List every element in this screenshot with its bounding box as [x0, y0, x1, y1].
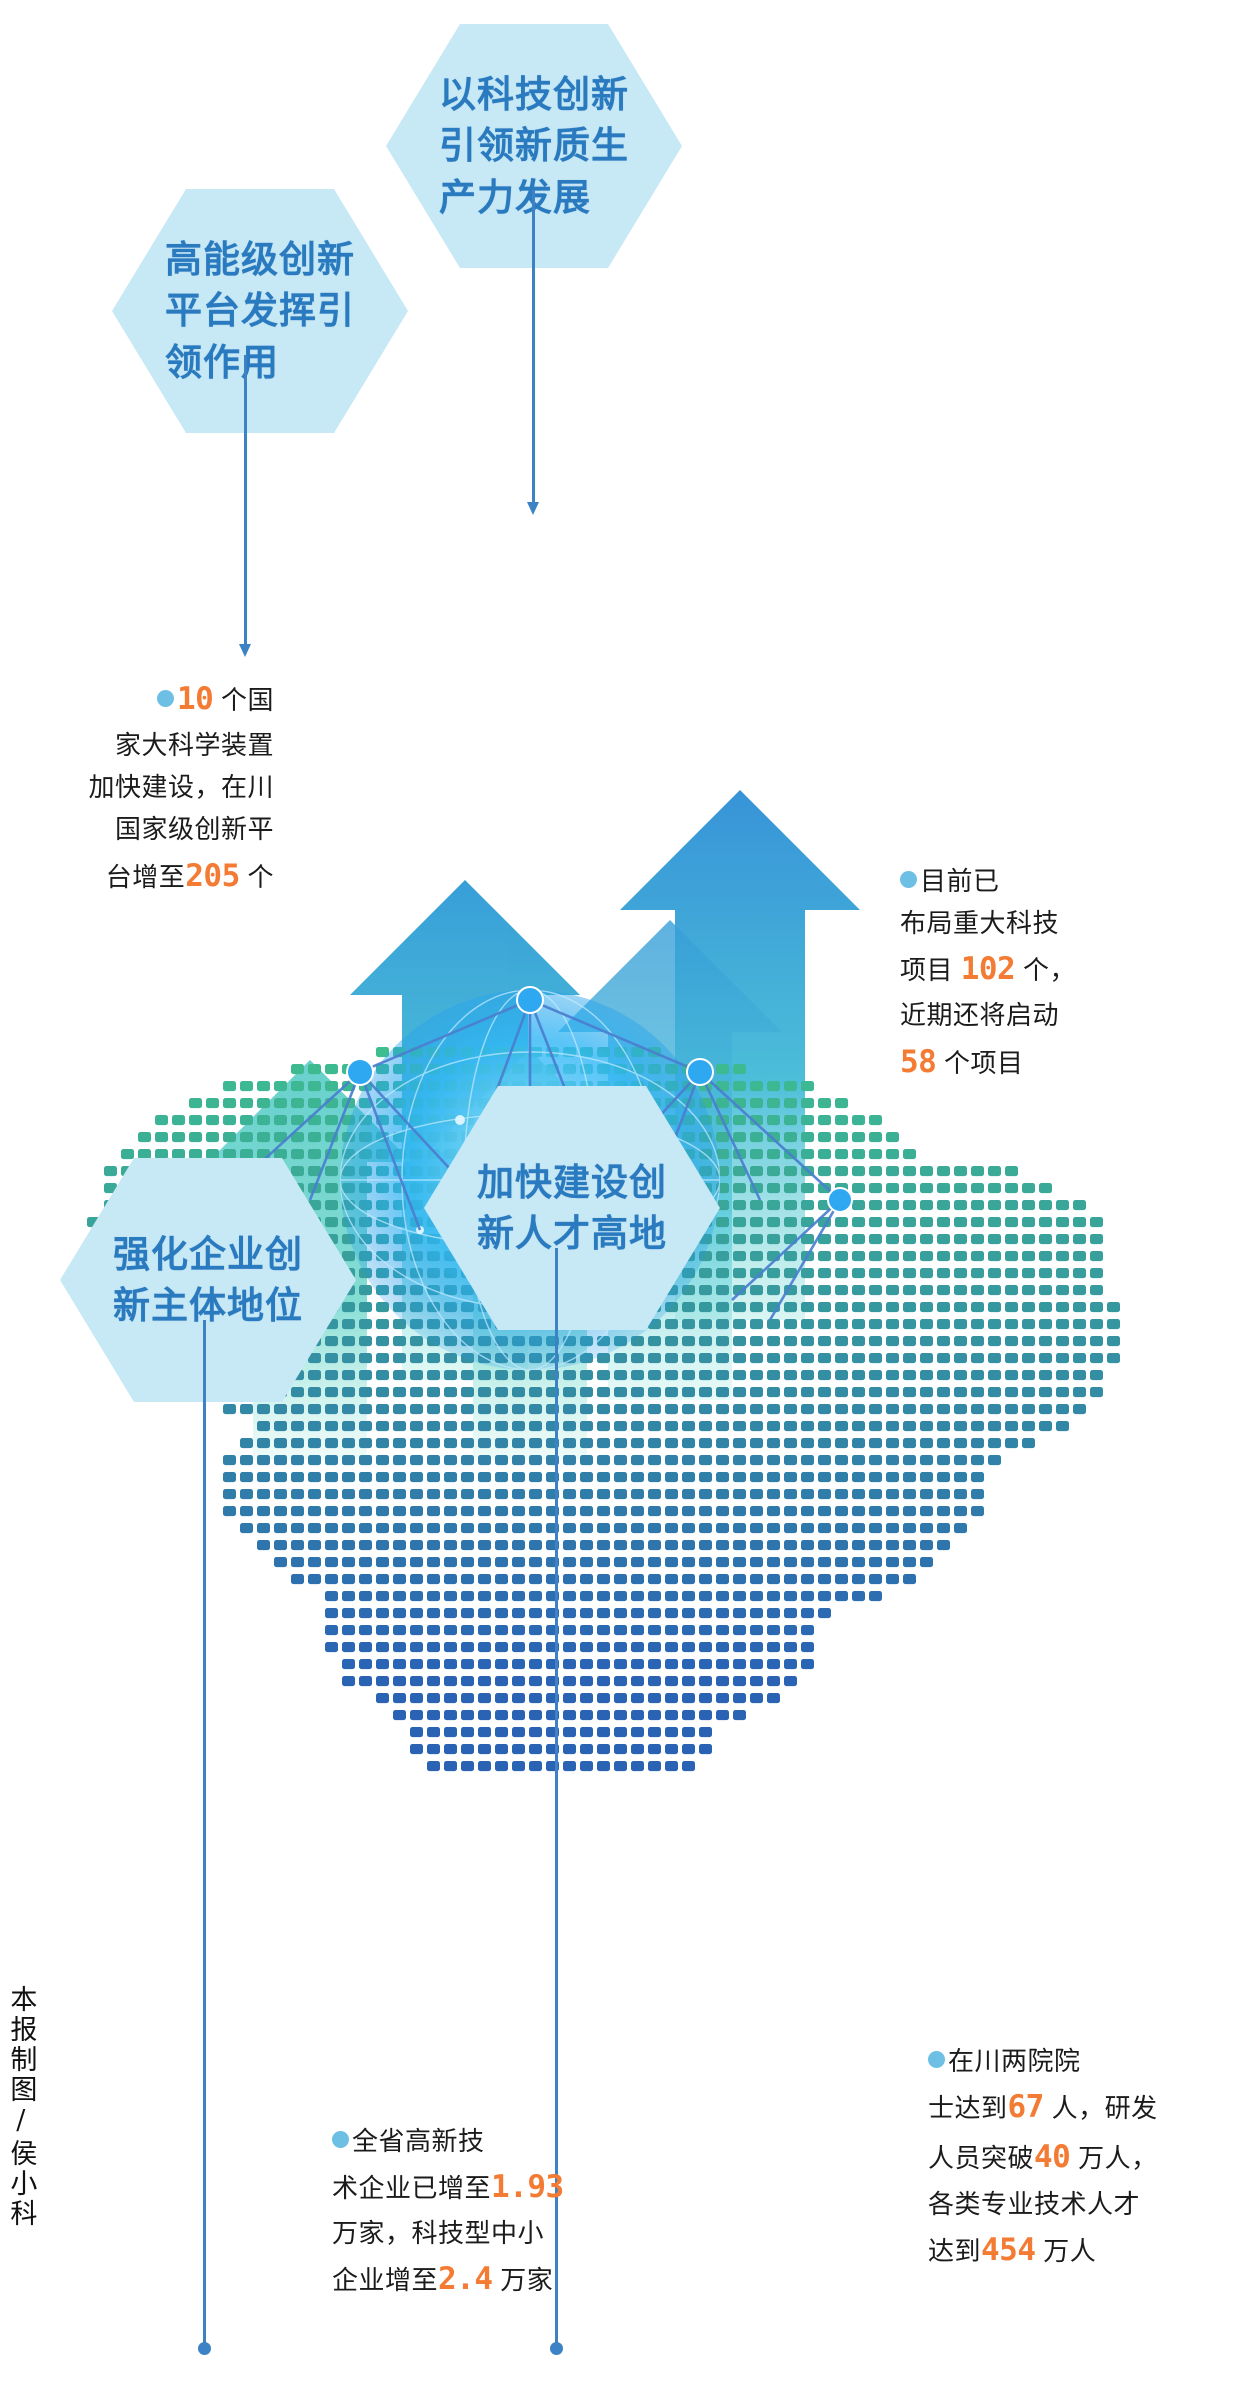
map-dot [257, 1455, 270, 1465]
map-dot [801, 1285, 814, 1295]
map-dot [461, 1370, 474, 1380]
map-dot [971, 1217, 984, 1227]
map-dot [359, 1540, 372, 1550]
map-dot [614, 1506, 627, 1516]
map-dot [767, 1523, 780, 1533]
map-dot [240, 1115, 253, 1125]
map-dot [767, 1659, 780, 1669]
map-dot [818, 1132, 831, 1142]
map-dot [257, 1132, 270, 1142]
hexagon-theme-platform[interactable]: 高能级创新 平台发挥引 领作用 [112, 189, 408, 433]
map-dot [291, 1064, 304, 1074]
map-dot [835, 1217, 848, 1227]
map-dot [920, 1421, 933, 1431]
map-dot [750, 1489, 763, 1499]
map-dot [699, 1676, 712, 1686]
map-dot [971, 1268, 984, 1278]
map-dot [920, 1319, 933, 1329]
map-dot [444, 1421, 457, 1431]
map-dot [461, 1608, 474, 1618]
map-dot [852, 1421, 865, 1431]
map-dot [903, 1472, 916, 1482]
map-dot [869, 1387, 882, 1397]
map-dot [920, 1489, 933, 1499]
map-dot [1056, 1336, 1069, 1346]
map-dot [716, 1608, 729, 1618]
map-dot [682, 1625, 695, 1635]
map-dot [563, 1370, 576, 1380]
map-dot [801, 1081, 814, 1091]
map-dot [665, 1404, 678, 1414]
map-dot [478, 1710, 491, 1720]
map-dot [631, 1608, 644, 1618]
map-dot [886, 1132, 899, 1142]
map-dot [240, 1438, 253, 1448]
map-dot [512, 1523, 525, 1533]
map-dot [631, 1523, 644, 1533]
map-dot [716, 1557, 729, 1567]
map-dot [665, 1438, 678, 1448]
map-dot [801, 1319, 814, 1329]
map-dot [1090, 1353, 1103, 1363]
map-dot [784, 1200, 797, 1210]
connector-shaft [532, 190, 535, 502]
map-dot [614, 1404, 627, 1414]
map-dot [648, 1625, 661, 1635]
map-dot [835, 1115, 848, 1125]
map-dot [818, 1251, 831, 1261]
map-dot [733, 1064, 746, 1074]
map-dot [308, 1540, 321, 1550]
map-dot [886, 1421, 899, 1431]
map-dot [495, 1727, 508, 1737]
map-dot [512, 1557, 525, 1567]
map-dot [886, 1455, 899, 1465]
map-dot [359, 1285, 372, 1295]
stat-line: 家大科学装置 [38, 724, 274, 766]
map-dot [648, 1404, 661, 1414]
map-dot [410, 1540, 423, 1550]
map-dot [784, 1438, 797, 1448]
map-dot [971, 1438, 984, 1448]
map-dot [631, 1489, 644, 1499]
stat-text: 布局重大科技 [900, 908, 1059, 938]
map-dot [1073, 1404, 1086, 1414]
map-dot [342, 1387, 355, 1397]
map-dot [529, 1608, 542, 1618]
map-dot [495, 1642, 508, 1652]
map-dot [665, 1370, 678, 1380]
map-dot [461, 1557, 474, 1567]
map-dot [342, 1353, 355, 1363]
map-dot [529, 1421, 542, 1431]
map-dot [1039, 1353, 1052, 1363]
map-dot [648, 1557, 661, 1567]
map-dot [869, 1455, 882, 1465]
map-dot [801, 1625, 814, 1635]
stat-line: 10 个国 [38, 674, 274, 724]
map-dot [563, 1438, 576, 1448]
map-dot [852, 1149, 865, 1159]
map-dot [1039, 1404, 1052, 1414]
map-dot [444, 1693, 457, 1703]
map-dot [665, 1676, 678, 1686]
map-dot [648, 1693, 661, 1703]
map-dot [478, 1642, 491, 1652]
map-dot [444, 1676, 457, 1686]
map-dot [801, 1659, 814, 1669]
map-dot [818, 1557, 831, 1567]
map-dot [597, 1455, 610, 1465]
map-dot [937, 1285, 950, 1295]
stat-text: 个 [240, 862, 274, 892]
map-dot [903, 1455, 916, 1465]
map-dot [954, 1404, 967, 1414]
stat-text: 万家 [493, 2265, 554, 2295]
map-dot [444, 1591, 457, 1601]
map-dot [954, 1489, 967, 1499]
map-dot [954, 1166, 967, 1176]
map-dot [886, 1234, 899, 1244]
map-dot [716, 1098, 729, 1108]
map-dot [597, 1744, 610, 1754]
map-dot [954, 1353, 967, 1363]
map-dot [410, 1710, 423, 1720]
map-dot [495, 1455, 508, 1465]
map-dot [750, 1081, 763, 1091]
map-dot [665, 1693, 678, 1703]
map-dot [682, 1659, 695, 1669]
map-dot [750, 1200, 763, 1210]
map-dot [580, 1727, 593, 1737]
map-dot [818, 1489, 831, 1499]
map-dot [852, 1506, 865, 1516]
map-dot [733, 1710, 746, 1720]
map-dot [886, 1251, 899, 1261]
map-dot [937, 1506, 950, 1516]
map-dot [444, 1625, 457, 1635]
map-dot [529, 1625, 542, 1635]
map-dot [376, 1523, 389, 1533]
map-dot [1056, 1285, 1069, 1295]
map-dot [1022, 1234, 1035, 1244]
map-dot [308, 1455, 321, 1465]
map-dot [1022, 1268, 1035, 1278]
map-dot [750, 1591, 763, 1601]
map-dot [631, 1727, 644, 1737]
map-dot [716, 1574, 729, 1584]
map-dot [223, 1132, 236, 1142]
map-dot [665, 1727, 678, 1737]
map-dot [495, 1591, 508, 1601]
map-dot [291, 1472, 304, 1482]
map-dot [631, 1455, 644, 1465]
map-dot [682, 1676, 695, 1686]
map-dot [869, 1183, 882, 1193]
map-dot [903, 1370, 916, 1380]
map-dot [444, 1574, 457, 1584]
connector-end-dot [198, 2342, 211, 2355]
map-dot [784, 1115, 797, 1125]
map-dot [580, 1489, 593, 1499]
map-dot [512, 1761, 525, 1771]
map-dot [512, 1387, 525, 1397]
map-dot [580, 1710, 593, 1720]
map-dot [699, 1370, 712, 1380]
map-dot [512, 1744, 525, 1754]
map-dot [648, 1710, 661, 1720]
map-dot [1107, 1319, 1120, 1329]
map-dot [767, 1591, 780, 1601]
map-dot [920, 1540, 933, 1550]
map-dot [716, 1064, 729, 1074]
map-dot [954, 1336, 967, 1346]
map-dot [733, 1183, 746, 1193]
map-dot [1022, 1251, 1035, 1261]
map-dot [699, 1387, 712, 1397]
map-dot [155, 1115, 168, 1125]
map-dot [988, 1166, 1001, 1176]
map-dot [750, 1455, 763, 1465]
map-dot [648, 1591, 661, 1601]
map-dot [597, 1693, 610, 1703]
map-dot [359, 1523, 372, 1533]
map-dot [427, 1574, 440, 1584]
map-dot [478, 1625, 491, 1635]
map-dot [206, 1149, 219, 1159]
map-dot [750, 1285, 763, 1295]
map-dot [818, 1455, 831, 1465]
map-dot [784, 1540, 797, 1550]
map-dot [1005, 1421, 1018, 1431]
map-dot [835, 1404, 848, 1414]
stat-number: 67 [1008, 2089, 1044, 2125]
map-dot [835, 1302, 848, 1312]
map-dot [699, 1625, 712, 1635]
map-dot [903, 1234, 916, 1244]
map-dot [597, 1370, 610, 1380]
map-dot [1073, 1353, 1086, 1363]
map-dot [648, 1574, 661, 1584]
map-dot [444, 1370, 457, 1380]
map-dot [784, 1217, 797, 1227]
map-dot [461, 1591, 474, 1601]
map-dot [920, 1506, 933, 1516]
map-dot [971, 1319, 984, 1329]
map-dot [699, 1506, 712, 1516]
connector-shaft [244, 355, 247, 644]
map-dot [733, 1404, 746, 1414]
map-dot [393, 1472, 406, 1482]
map-dot [495, 1489, 508, 1499]
map-dot [529, 1744, 542, 1754]
map-dot [495, 1370, 508, 1380]
map-dot [801, 1336, 814, 1346]
map-dot [495, 1625, 508, 1635]
map-dot [291, 1387, 304, 1397]
map-dot [410, 1489, 423, 1499]
map-dot [1090, 1387, 1103, 1397]
map-dot [172, 1149, 185, 1159]
map-dot [444, 1523, 457, 1533]
map-dot [682, 1727, 695, 1737]
map-dot [580, 1455, 593, 1465]
map-dot [223, 1115, 236, 1125]
map-dot [852, 1574, 865, 1584]
map-dot [869, 1574, 882, 1584]
map-dot [665, 1659, 678, 1669]
map-dot [869, 1506, 882, 1516]
map-dot [903, 1387, 916, 1397]
map-dot [716, 1625, 729, 1635]
stat-projects: 目前已布局重大科技项目 102 个，近期还将启动58 个项目 [900, 860, 1190, 1087]
map-dot [529, 1761, 542, 1771]
map-dot [954, 1506, 967, 1516]
map-dot [614, 1591, 627, 1601]
map-dot [699, 1319, 712, 1329]
map-dot [189, 1132, 202, 1142]
map-dot [716, 1455, 729, 1465]
map-dot [631, 1421, 644, 1431]
map-dot [1039, 1251, 1052, 1261]
map-dot [495, 1676, 508, 1686]
map-dot [580, 1387, 593, 1397]
map-dot [699, 1336, 712, 1346]
stat-number: 454 [981, 2232, 1036, 2268]
map-dot [954, 1251, 967, 1261]
map-dot [308, 1064, 321, 1074]
map-dot [495, 1744, 508, 1754]
map-dot [580, 1557, 593, 1567]
map-dot [852, 1268, 865, 1278]
map-dot [291, 1455, 304, 1465]
map-dot [563, 1472, 576, 1482]
map-dot [393, 1710, 406, 1720]
map-dot [835, 1370, 848, 1380]
map-dot [614, 1625, 627, 1635]
map-dot [325, 1540, 338, 1550]
map-dot [308, 1506, 321, 1516]
map-dot [903, 1404, 916, 1414]
map-dot [954, 1387, 967, 1397]
map-dot [733, 1659, 746, 1669]
map-dot [1073, 1336, 1086, 1346]
map-dot [257, 1081, 270, 1091]
stat-text: 个国 [213, 685, 274, 715]
map-dot [852, 1591, 865, 1601]
map-dot [716, 1693, 729, 1703]
map-dot [852, 1251, 865, 1261]
map-dot [427, 1744, 440, 1754]
map-dot [325, 1472, 338, 1482]
map-dot [648, 1353, 661, 1363]
map-dot [733, 1455, 746, 1465]
map-dot [716, 1659, 729, 1669]
map-dot [818, 1387, 831, 1397]
map-dot [1073, 1387, 1086, 1397]
map-dot [325, 1489, 338, 1499]
map-dot [648, 1336, 661, 1346]
map-dot [869, 1472, 882, 1482]
map-dot [971, 1183, 984, 1193]
map-dot [903, 1353, 916, 1363]
map-dot [818, 1506, 831, 1516]
map-dot [937, 1217, 950, 1227]
map-dot [325, 1642, 338, 1652]
map-dot [920, 1404, 933, 1414]
map-dot [1005, 1166, 1018, 1176]
infographic-canvas: 以科技创新 引领新质生 产力发展 高能级创新 平台发挥引 领作用 强化企业创 新… [0, 0, 1238, 2392]
map-dot [580, 1506, 593, 1516]
map-dot [665, 1574, 678, 1584]
map-dot [1005, 1183, 1018, 1193]
map-dot [359, 1506, 372, 1516]
map-dot [1090, 1251, 1103, 1261]
map-dot [648, 1387, 661, 1397]
map-dot [342, 1540, 355, 1550]
map-dot [682, 1387, 695, 1397]
map-dot [835, 1319, 848, 1329]
map-dot [614, 1574, 627, 1584]
map-dot [631, 1506, 644, 1516]
map-dot [903, 1574, 916, 1584]
map-dot [920, 1336, 933, 1346]
map-dot [835, 1251, 848, 1261]
map-dot [784, 1132, 797, 1142]
map-dot [1090, 1319, 1103, 1329]
map-dot [376, 1353, 389, 1363]
map-dot [988, 1336, 1001, 1346]
map-dot [631, 1557, 644, 1567]
map-dot [189, 1098, 202, 1108]
map-dot [750, 1387, 763, 1397]
map-dot [750, 1302, 763, 1312]
map-dot [1039, 1200, 1052, 1210]
map-dot [308, 1472, 321, 1482]
map-dot [274, 1557, 287, 1567]
map-dot [801, 1557, 814, 1567]
map-dot [767, 1370, 780, 1380]
map-dot [580, 1642, 593, 1652]
map-dot [869, 1523, 882, 1533]
map-dot [325, 1574, 338, 1584]
map-dot [444, 1489, 457, 1499]
map-dot [240, 1489, 253, 1499]
map-dot [937, 1302, 950, 1312]
map-dot [648, 1506, 661, 1516]
map-dot [495, 1761, 508, 1771]
map-dot [733, 1574, 746, 1584]
map-dot [614, 1387, 627, 1397]
map-dot [580, 1625, 593, 1635]
map-dot [1022, 1370, 1035, 1380]
map-dot [767, 1455, 780, 1465]
map-dot [886, 1183, 899, 1193]
map-dot [410, 1659, 423, 1669]
map-dot [1056, 1251, 1069, 1261]
map-dot [750, 1659, 763, 1669]
map-dot [427, 1676, 440, 1686]
map-dot [597, 1625, 610, 1635]
map-dot [342, 1506, 355, 1516]
map-dot [597, 1421, 610, 1431]
map-dot [767, 1438, 780, 1448]
map-dot [784, 1642, 797, 1652]
map-dot [461, 1421, 474, 1431]
map-dot [733, 1693, 746, 1703]
map-dot [240, 1523, 253, 1533]
map-dot [886, 1523, 899, 1533]
